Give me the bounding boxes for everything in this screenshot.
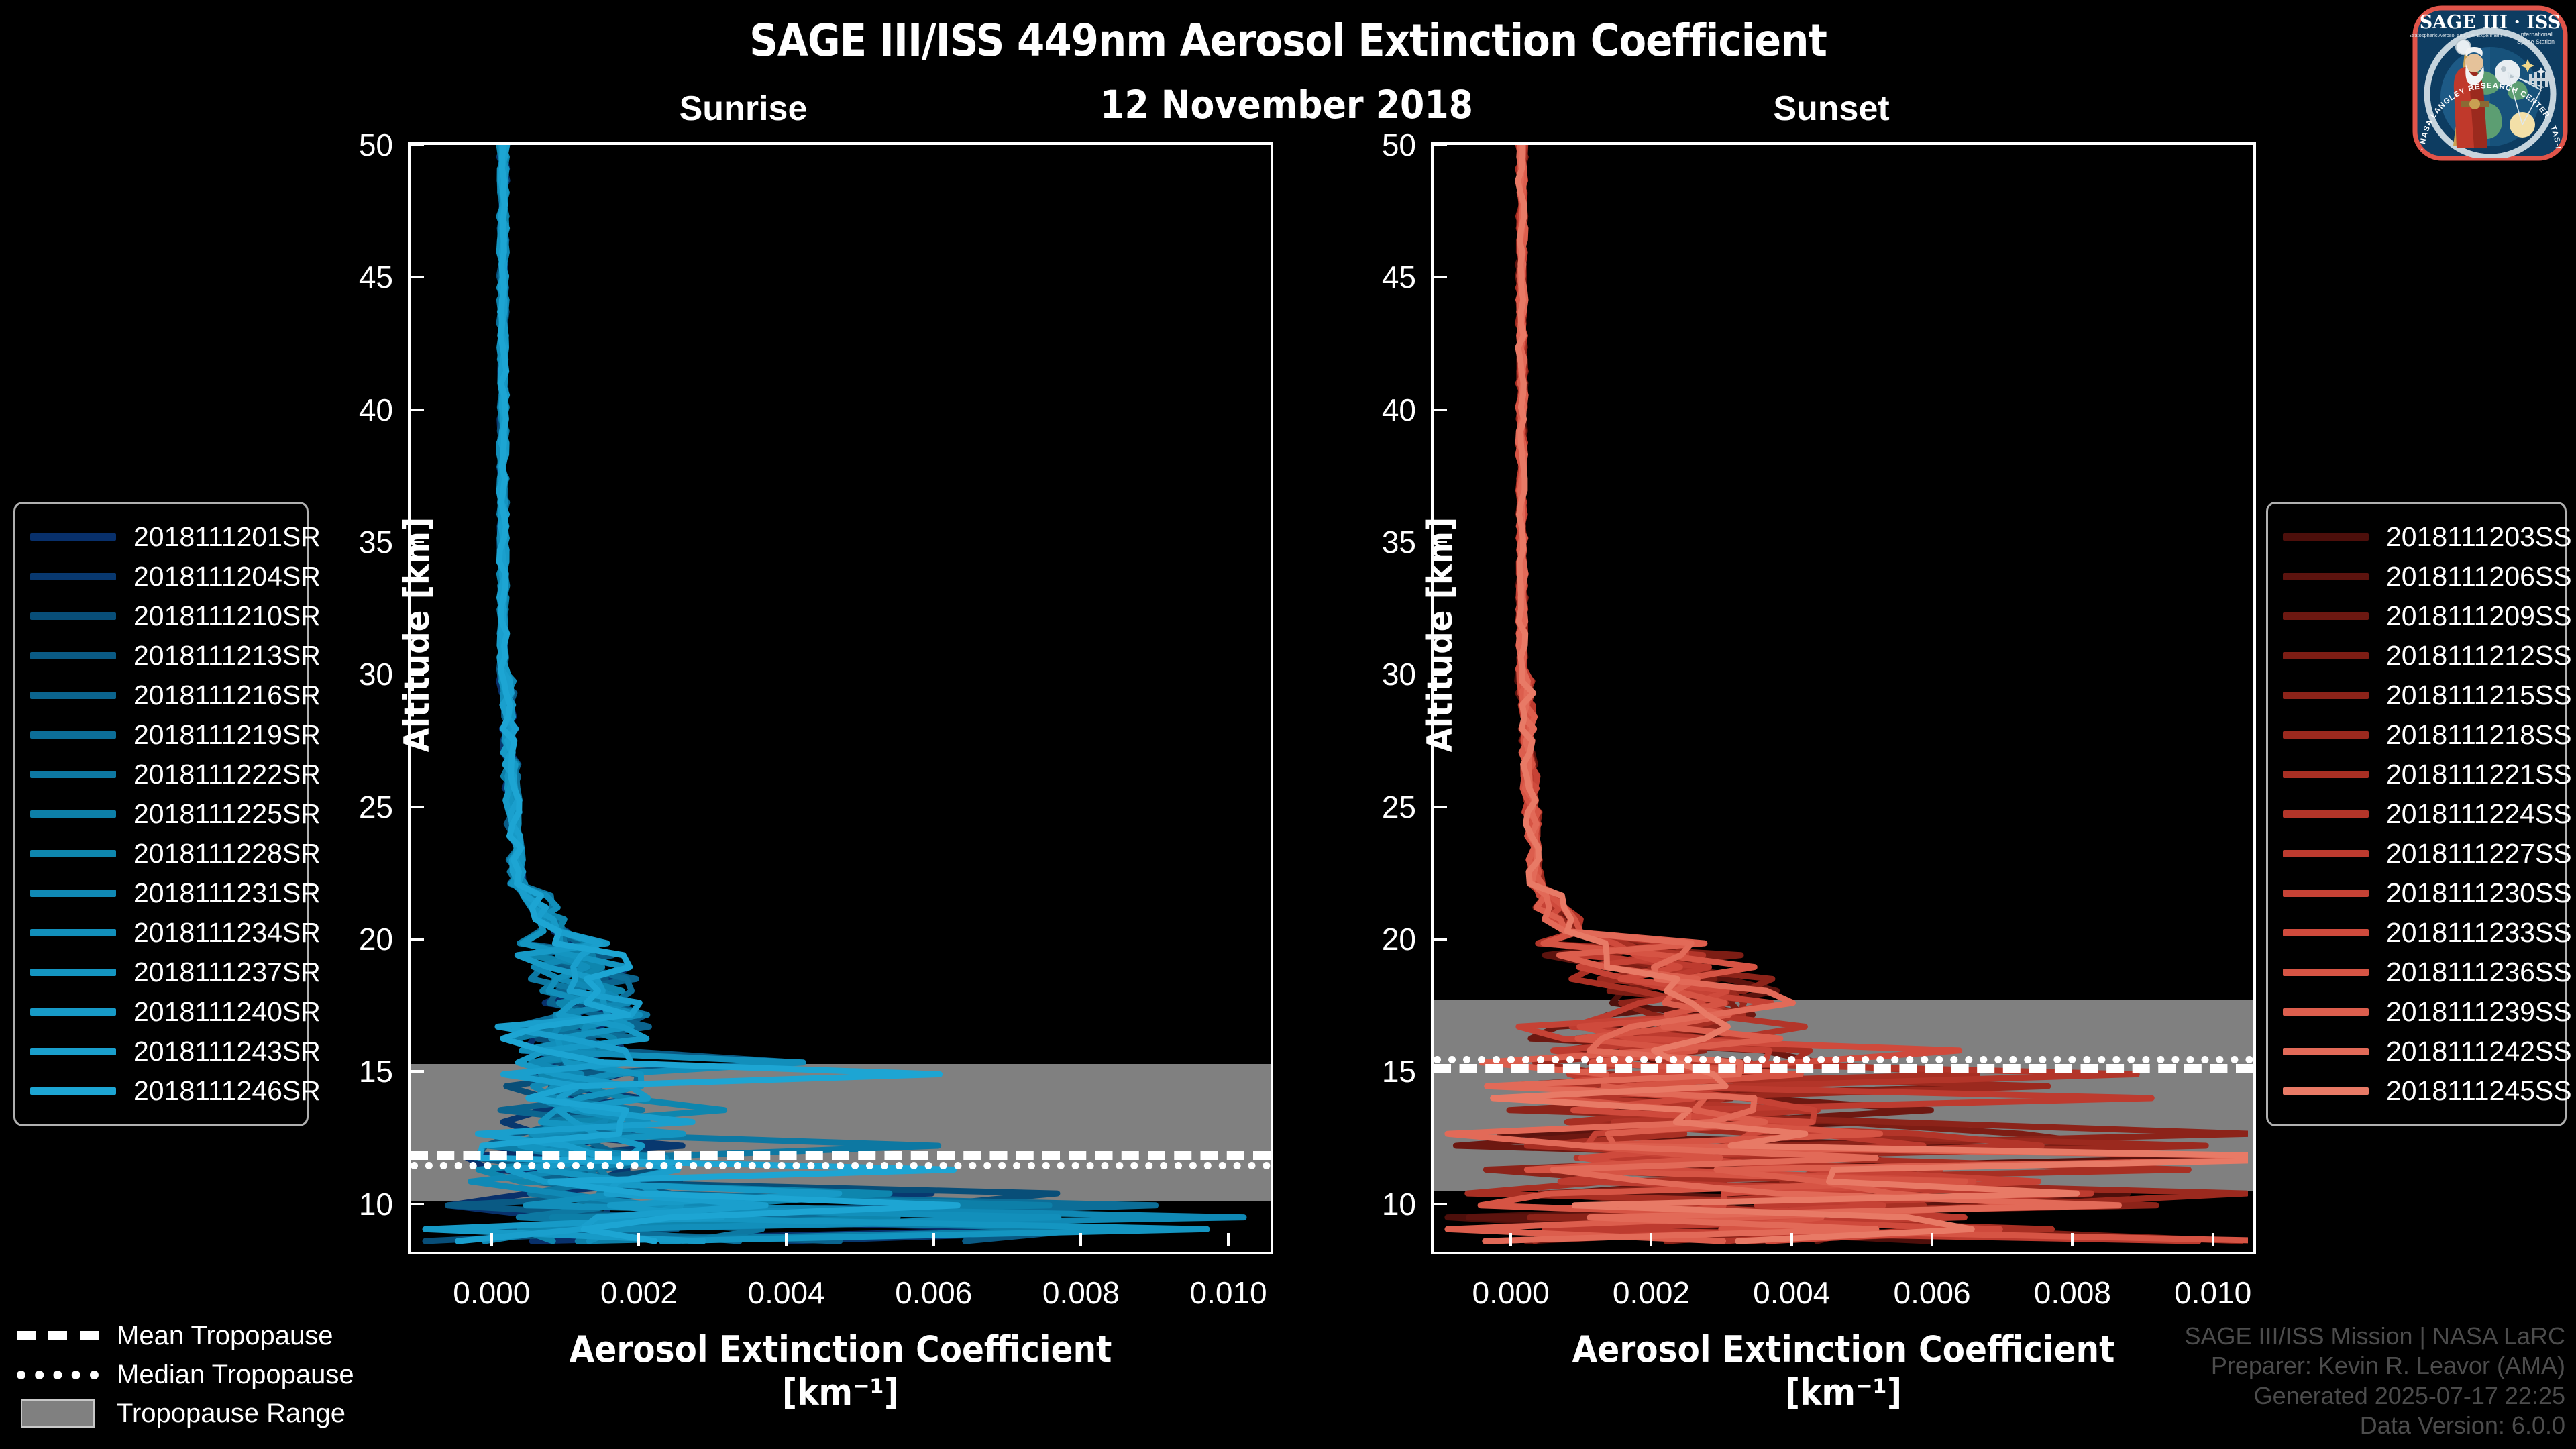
y-axis-tick-mark: [411, 145, 424, 146]
panel-title-sunrise: Sunrise: [609, 89, 877, 129]
credits-block: SAGE III/ISS Mission | NASA LaRC Prepare…: [2184, 1322, 2565, 1442]
x-axis-tick-label: 0.010: [2174, 1275, 2251, 1311]
y-axis-tick-mark: [411, 938, 424, 941]
legend-item-label: 2018111239SS: [2386, 996, 2572, 1028]
dotted-line-icon: [15, 1371, 101, 1379]
legend-color-swatch: [30, 612, 116, 620]
legend-color-swatch: [2283, 1008, 2369, 1016]
legend-item-label: 2018111222SR: [133, 759, 321, 790]
legend-item[interactable]: 2018111224SS: [2283, 794, 2550, 834]
gray-band-icon: [15, 1399, 101, 1428]
legend-color-swatch: [2283, 969, 2369, 976]
legend-color-swatch: [30, 573, 116, 580]
legend-item[interactable]: 2018111234SR: [30, 913, 292, 953]
legend-item[interactable]: 2018111215SS: [2283, 676, 2550, 715]
legend-item-label: 2018111203SS: [2386, 521, 2572, 553]
y-axis-tick-mark: [1434, 276, 1447, 278]
legend-item-label: 2018111234SR: [133, 917, 321, 949]
page-title: SAGE III/ISS 449nm Aerosol Extinction Co…: [0, 15, 2576, 66]
legend-item[interactable]: 2018111225SR: [30, 794, 292, 834]
y-axis-tick-label: 45: [359, 259, 393, 295]
x-axis-label-sunrise: Aerosol Extinction Coefficient [km⁻¹]: [421, 1328, 1260, 1413]
x-axis-tick-label: 0.008: [2034, 1275, 2111, 1311]
key-label-mean: Mean Tropopause: [117, 1321, 333, 1351]
legend-item[interactable]: 2018111245SS: [2283, 1071, 2550, 1111]
logo-subtitle-right-2: Space Station: [2517, 38, 2555, 45]
plot-area-sunrise: [411, 145, 1271, 1252]
tropopause-key: Mean Tropopause Median Tropopause Tropop…: [15, 1316, 354, 1433]
median-tropopause-line: [411, 1162, 1271, 1169]
key-row-range: Tropopause Range: [15, 1394, 354, 1433]
legend-color-swatch: [2283, 890, 2369, 897]
legend-item-label: 2018111227SS: [2386, 838, 2572, 869]
y-axis-label-sunrise: Altitude [km]: [397, 494, 437, 775]
x-axis-unit-sunrise: [km⁻¹]: [421, 1371, 1260, 1414]
legend-item[interactable]: 2018111240SR: [30, 992, 292, 1032]
y-axis-tick-label: 35: [1382, 524, 1416, 560]
plot-sunset[interactable]: Altitude [km] 1015202530354045500.0000.0…: [1431, 142, 2256, 1254]
legend-item-label: 2018111215SS: [2386, 680, 2572, 711]
legend-color-swatch: [2283, 850, 2369, 857]
legend-color-swatch: [30, 533, 116, 541]
x-axis-label-sunset-text: Aerosol Extinction Coefficient: [1572, 1328, 2115, 1371]
credits-line-generated: Generated 2025-07-17 22:25: [2184, 1381, 2565, 1411]
y-axis-tick-label: 40: [359, 392, 393, 428]
legend-color-swatch: [2283, 771, 2369, 778]
dashed-line-icon: [15, 1331, 101, 1340]
x-axis-tick-label: 0.002: [600, 1275, 678, 1311]
y-axis-tick-label: 30: [359, 656, 393, 692]
legend-item[interactable]: 2018111243SR: [30, 1032, 292, 1071]
legend-item[interactable]: 2018111212SS: [2283, 636, 2550, 676]
x-axis-label-sunset: Aerosol Extinction Coefficient [km⁻¹]: [1438, 1328, 2249, 1413]
legend-color-swatch: [30, 890, 116, 897]
legend-color-swatch: [30, 731, 116, 739]
legend-item-label: 2018111233SS: [2386, 917, 2572, 949]
x-axis-tick-mark: [1931, 1233, 1933, 1246]
date-subtitle: 12 November 2018: [985, 82, 1589, 127]
extinction-profile-lines: [1434, 145, 2248, 1246]
y-axis-tick-label: 15: [359, 1053, 393, 1089]
legend-item-label: 2018111206SS: [2386, 561, 2572, 592]
credits-line-version: Data Version: 6.0.0: [2184, 1411, 2565, 1441]
credits-line-preparer: Preparer: Kevin R. Leavor (AMA): [2184, 1351, 2565, 1381]
legend-item[interactable]: 2018111209SS: [2283, 596, 2550, 636]
legend-color-swatch: [2283, 1048, 2369, 1055]
x-axis-tick-mark: [1079, 1233, 1082, 1246]
legend-item-label: 2018111212SS: [2386, 640, 2572, 672]
key-row-mean: Mean Tropopause: [15, 1316, 354, 1355]
legend-item-label: 2018111201SR: [133, 521, 321, 553]
x-axis-tick-mark: [1790, 1233, 1793, 1246]
legend-color-swatch: [30, 692, 116, 699]
legend-color-swatch: [30, 771, 116, 778]
legend-color-swatch: [2283, 652, 2369, 659]
legend-item[interactable]: 2018111242SS: [2283, 1032, 2550, 1071]
credits-line-mission: SAGE III/ISS Mission | NASA LaRC: [2184, 1322, 2565, 1352]
legend-item-label: 2018111231SR: [133, 877, 321, 909]
logo-subtitle-right-1: International: [2519, 31, 2553, 38]
y-axis-tick-mark: [411, 806, 424, 808]
y-axis-tick-label: 40: [1382, 392, 1416, 428]
y-axis-tick-mark: [411, 409, 424, 411]
legend-item-label: 2018111218SS: [2386, 719, 2572, 751]
legend-item-label: 2018111242SS: [2386, 1036, 2572, 1067]
x-axis-tick-mark: [2071, 1233, 2074, 1246]
y-axis-tick-mark: [1434, 409, 1447, 411]
legend-color-swatch: [30, 1048, 116, 1055]
plot-sunrise[interactable]: Altitude [km] 1015202530354045500.0000.0…: [408, 142, 1273, 1254]
x-axis-tick-mark: [932, 1233, 935, 1246]
legend-item-label: 2018111230SS: [2386, 877, 2572, 909]
y-axis-tick-mark: [1434, 1203, 1447, 1205]
legend-item[interactable]: 2018111221SS: [2283, 755, 2550, 794]
legend-item-label: 2018111213SR: [133, 640, 321, 672]
legend-color-swatch: [2283, 692, 2369, 699]
x-axis-tick-label: 0.008: [1042, 1275, 1120, 1311]
legend-item[interactable]: 2018111210SR: [30, 596, 292, 636]
mean-tropopause-line: [411, 1151, 1271, 1160]
legend-item[interactable]: 2018111218SS: [2283, 715, 2550, 755]
legend-item-label: 2018111204SR: [133, 561, 321, 592]
y-axis-tick-label: 50: [1382, 127, 1416, 163]
legend-item[interactable]: 2018111216SR: [30, 676, 292, 715]
legend-color-swatch: [30, 1008, 116, 1016]
y-axis-tick-label: 15: [1382, 1053, 1416, 1089]
x-axis-label-sunrise-text: Aerosol Extinction Coefficient: [570, 1328, 1112, 1371]
y-axis-label-sunset: Altitude [km]: [1420, 494, 1460, 775]
x-axis-tick-mark: [1509, 1233, 1512, 1246]
x-axis-tick-label: 0.000: [453, 1275, 530, 1311]
y-axis-tick-label: 20: [1382, 921, 1416, 957]
legend-color-swatch: [30, 969, 116, 976]
legend-sunset[interactable]: 2018111203SS2018111206SS2018111209SS2018…: [2266, 502, 2567, 1126]
legend-item-label: 2018111216SR: [133, 680, 321, 711]
x-axis-tick-mark: [1650, 1233, 1652, 1246]
x-axis-tick-label: 0.004: [748, 1275, 825, 1311]
x-axis-tick-label: 0.010: [1190, 1275, 1267, 1311]
y-axis-tick-label: 45: [1382, 259, 1416, 295]
x-axis-tick-label: 0.006: [895, 1275, 972, 1311]
y-axis-tick-mark: [1434, 938, 1447, 941]
legend-item[interactable]: 2018111228SR: [30, 834, 292, 873]
legend-item-label: 2018111237SR: [133, 957, 321, 988]
legend-item[interactable]: 2018111239SS: [2283, 992, 2550, 1032]
legend-color-swatch: [2283, 929, 2369, 936]
legend-item-label: 2018111221SS: [2386, 759, 2572, 790]
x-axis-tick-label: 0.006: [1893, 1275, 1970, 1311]
x-axis-tick-label: 0.000: [1472, 1275, 1550, 1311]
y-axis-tick-label: 25: [1382, 789, 1416, 825]
legend-item-label: 2018111224SS: [2386, 798, 2572, 830]
y-axis-tick-label: 25: [359, 789, 393, 825]
legend-item[interactable]: 2018111230SS: [2283, 873, 2550, 913]
legend-item-label: 2018111240SR: [133, 996, 321, 1028]
key-row-median: Median Tropopause: [15, 1355, 354, 1394]
legend-item[interactable]: 2018111219SR: [30, 715, 292, 755]
x-axis-tick-mark: [785, 1233, 788, 1246]
y-axis-tick-mark: [1434, 806, 1447, 808]
legend-item[interactable]: 2018111236SS: [2283, 953, 2550, 992]
legend-color-swatch: [2283, 612, 2369, 620]
legend-color-swatch: [2283, 810, 2369, 818]
logo-title: SAGE III · ISS: [2420, 12, 2561, 33]
legend-color-swatch: [30, 810, 116, 818]
legend-item[interactable]: 2018111204SR: [30, 557, 292, 596]
legend-color-swatch: [2283, 533, 2369, 541]
legend-item[interactable]: 2018111201SR: [30, 517, 292, 557]
y-axis-tick-label: 35: [359, 524, 393, 560]
legend-color-swatch: [30, 1087, 116, 1095]
legend-color-swatch: [30, 850, 116, 857]
legend-item[interactable]: 2018111237SR: [30, 953, 292, 992]
legend-item[interactable]: 2018111203SS: [2283, 517, 2550, 557]
panel-title-sunset: Sunset: [1697, 89, 1966, 129]
y-axis-tick-label: 20: [359, 921, 393, 957]
legend-item-label: 2018111219SR: [133, 719, 321, 751]
logo-subtitle-left: Stratospheric Aerosol and Gas Experiment…: [2410, 32, 2508, 38]
legend-item-label: 2018111209SS: [2386, 600, 2572, 632]
legend-item[interactable]: 2018111246SR: [30, 1071, 292, 1111]
legend-color-swatch: [2283, 1087, 2369, 1095]
y-axis-tick-label: 30: [1382, 656, 1416, 692]
plot-area-sunset: [1434, 145, 2253, 1252]
y-axis-tick-mark: [411, 1070, 424, 1073]
legend-color-swatch: [30, 652, 116, 659]
legend-color-swatch: [30, 929, 116, 936]
y-axis-tick-mark: [411, 276, 424, 278]
x-axis-unit-sunset: [km⁻¹]: [1438, 1371, 2249, 1414]
y-axis-tick-label: 50: [359, 127, 393, 163]
x-axis-tick-label: 0.004: [1753, 1275, 1830, 1311]
legend-item-label: 2018111210SR: [133, 600, 321, 632]
y-axis-tick-mark: [1434, 1070, 1447, 1073]
x-axis-tick-mark: [2212, 1233, 2214, 1246]
y-axis-tick-label: 10: [359, 1186, 393, 1222]
extinction-profile-lines: [411, 145, 1265, 1246]
legend-sunrise[interactable]: 2018111201SR2018111204SR2018111210SR2018…: [13, 502, 309, 1126]
y-axis-tick-label: 10: [1382, 1186, 1416, 1222]
x-axis-tick-label: 0.002: [1613, 1275, 1690, 1311]
median-tropopause-line: [1434, 1056, 2253, 1063]
legend-item-label: 2018111243SR: [133, 1036, 321, 1067]
y-axis-tick-mark: [1434, 145, 1447, 146]
x-axis-tick-mark: [1227, 1233, 1230, 1246]
legend-item-label: 2018111246SR: [133, 1075, 321, 1107]
legend-item[interactable]: 2018111233SS: [2283, 913, 2550, 953]
y-axis-tick-mark: [411, 1203, 424, 1205]
legend-item-label: 2018111236SS: [2386, 957, 2572, 988]
legend-item-label: 2018111225SR: [133, 798, 321, 830]
legend-color-swatch: [2283, 573, 2369, 580]
legend-item-label: 2018111245SS: [2386, 1075, 2572, 1107]
legend-color-swatch: [2283, 731, 2369, 739]
sage-iii-iss-mission-patch-logo: SAGE III · ISS Stratospheric Aerosol and…: [2410, 3, 2571, 164]
legend-item[interactable]: 2018111206SS: [2283, 557, 2550, 596]
key-label-range: Tropopause Range: [117, 1399, 345, 1429]
legend-item-label: 2018111228SR: [133, 838, 321, 869]
x-axis-tick-mark: [490, 1233, 493, 1246]
legend-item[interactable]: 2018111222SR: [30, 755, 292, 794]
legend-item[interactable]: 2018111231SR: [30, 873, 292, 913]
mean-tropopause-line: [1434, 1064, 2253, 1073]
legend-item[interactable]: 2018111213SR: [30, 636, 292, 676]
key-label-median: Median Tropopause: [117, 1360, 354, 1390]
legend-item[interactable]: 2018111227SS: [2283, 834, 2550, 873]
x-axis-tick-mark: [637, 1233, 640, 1246]
